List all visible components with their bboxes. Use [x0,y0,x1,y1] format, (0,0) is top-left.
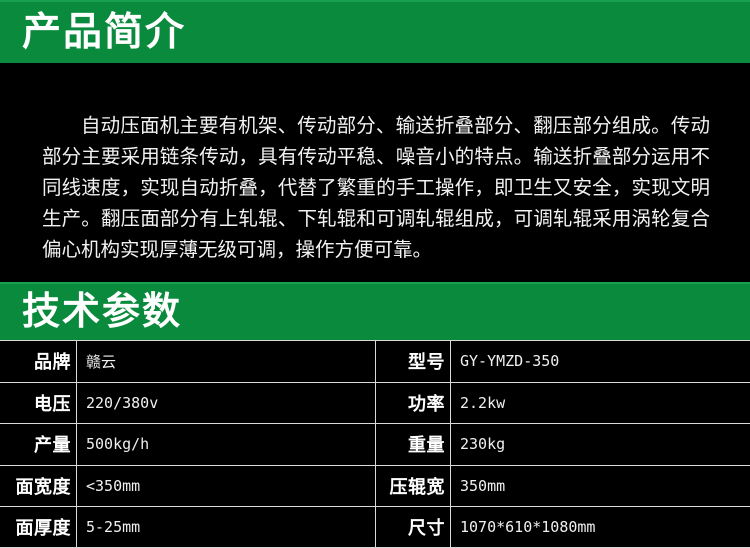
table-cell-group-left: 产量 500kg/h [0,424,375,465]
table-cell-group-right: 尺寸 1070*610*1080mm [375,507,750,547]
table-row: 电压 220/380v 功率 2.2kw [0,382,750,424]
table-label-cell: 产量 [0,424,76,465]
table-value-cell: <350mm [76,466,375,507]
table-cell-group-left: 面厚度 5-25mm [0,507,375,547]
table-label-cell: 电压 [0,383,76,424]
table-value-cell: 230kg [450,424,750,465]
table-cell-group-left: 面宽度 <350mm [0,466,375,507]
section-banner-product-intro: 产品简介 [0,0,750,63]
table-label-cell: 品牌 [0,341,76,382]
table-value-cell: 350mm [450,466,750,507]
product-detail-page: 产品简介 自动压面机主要有机架、传动部分、输送折叠部分、翻压部分组成。传动部分主… [0,0,750,548]
table-row: 面宽度 <350mm 压辊宽 350mm [0,465,750,507]
table-label-cell: 面厚度 [0,507,76,547]
table-cell-group-right: 型号 GY-YMZD-350 [375,341,750,382]
section-banner-tech-params: 技术参数 [0,282,750,340]
table-value-cell: 赣云 [76,341,375,382]
table-row: 产量 500kg/h 重量 230kg [0,423,750,465]
table-label-cell: 面宽度 [0,466,76,507]
table-cell-group-right: 重量 230kg [375,424,750,465]
table-cell-group-left: 电压 220/380v [0,383,375,424]
product-intro-body: 自动压面机主要有机架、传动部分、输送折叠部分、翻压部分组成。传动部分主要采用链条… [0,63,750,282]
section-title-tech-params: 技术参数 [22,288,182,334]
product-intro-paragraph: 自动压面机主要有机架、传动部分、输送折叠部分、翻压部分组成。传动部分主要采用链条… [42,110,710,265]
table-label-cell: 功率 [376,383,450,424]
table-cell-group-right: 压辊宽 350mm [375,466,750,507]
section-title-product-intro: 产品简介 [22,10,186,56]
table-value-cell: 220/380v [76,383,375,424]
table-row: 面厚度 5-25mm 尺寸 1070*610*1080mm [0,506,750,548]
table-label-cell: 尺寸 [376,507,450,547]
table-value-cell: 5-25mm [76,507,375,547]
table-label-cell: 重量 [376,424,450,465]
table-cell-group-left: 品牌 赣云 [0,341,375,382]
table-row: 品牌 赣云 型号 GY-YMZD-350 [0,340,750,382]
table-cell-group-right: 功率 2.2kw [375,383,750,424]
tech-params-table: 品牌 赣云 型号 GY-YMZD-350 电压 220/380v 功率 2.2k… [0,340,750,548]
table-label-cell: 型号 [376,341,450,382]
table-value-cell: 1070*610*1080mm [450,507,750,547]
table-value-cell: GY-YMZD-350 [450,341,750,382]
table-value-cell: 500kg/h [76,424,375,465]
table-label-cell: 压辊宽 [376,466,450,507]
table-value-cell: 2.2kw [450,383,750,424]
